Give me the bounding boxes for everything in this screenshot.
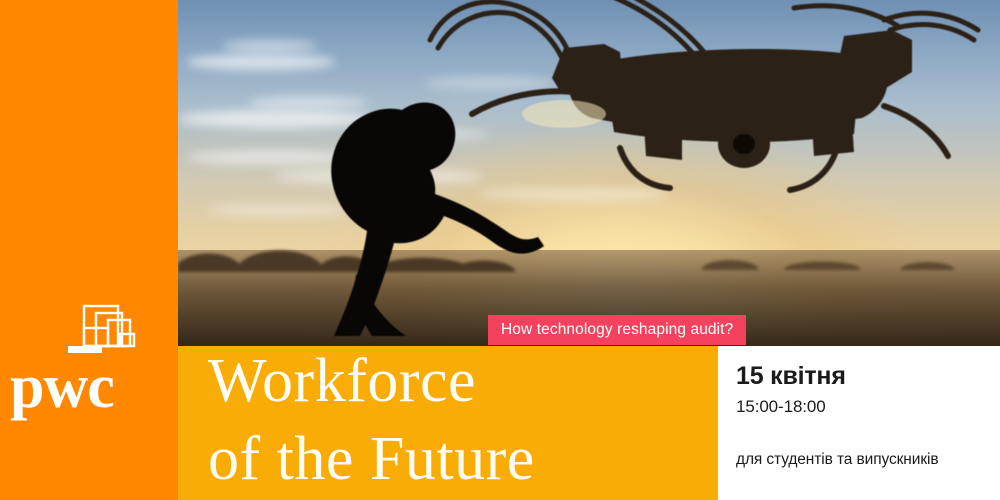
event-time: 15:00-18:00 xyxy=(736,397,826,417)
event-details-panel: 15 квітня 15:00-18:00 для студентів та в… xyxy=(718,346,1000,500)
pwc-logo: pwc xyxy=(0,298,178,458)
event-audience: для студентів та випускників xyxy=(736,451,938,469)
event-banner: How technology reshaping audit? Workforc… xyxy=(0,0,1000,500)
cloud-shape xyxy=(222,40,318,52)
hero-photo xyxy=(178,0,1000,346)
brand-rail: pwc xyxy=(0,0,178,500)
pwc-wordmark: pwc xyxy=(10,356,170,418)
event-date: 15 квітня xyxy=(736,362,846,391)
question-ribbon: How technology reshaping audit? xyxy=(488,315,746,345)
pwc-building-blocks-icon xyxy=(62,302,150,360)
event-title: Workforce of the Future xyxy=(208,346,718,498)
cloud-shape xyxy=(186,54,336,70)
title-panel: Workforce of the Future xyxy=(178,346,718,500)
quadcopter-drone-silhouette xyxy=(414,0,1000,216)
